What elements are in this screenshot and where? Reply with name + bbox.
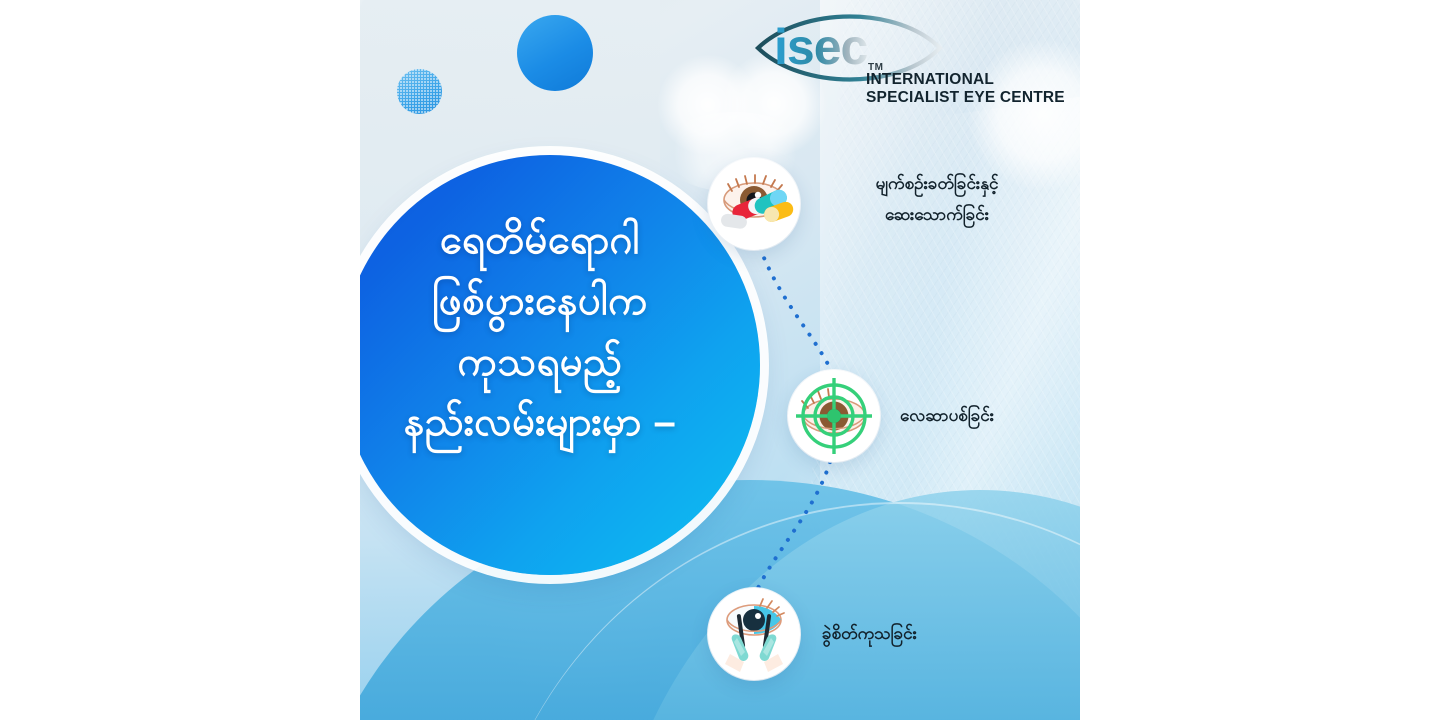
eye-with-pills-icon bbox=[708, 158, 800, 250]
treatment-label-laser-treatment: လေဆာပစ်ခြင်း bbox=[900, 400, 1080, 431]
creative-canvas: isec TM INTERNATIONAL SPECIALIST EYE CEN… bbox=[360, 0, 1080, 720]
solid-blue-circle-decoration bbox=[517, 15, 593, 91]
eye-surgery-hands-icon bbox=[708, 588, 800, 680]
treatment-icon-eye-drops-and-medication[interactable] bbox=[708, 158, 800, 250]
eye-with-laser-target-icon bbox=[788, 370, 880, 462]
treatment-icon-laser-treatment[interactable] bbox=[788, 370, 880, 462]
page-title: ရေတိမ်ရောဂါ ဖြစ်ပွားနေပါက ကုသရမည့် နည်းလ… bbox=[380, 210, 700, 453]
dotted-blue-circle-decoration bbox=[397, 69, 442, 114]
logo-company-line2: SPECIALIST EYE CENTRE bbox=[866, 89, 1065, 107]
svg-text:isec: isec bbox=[774, 19, 868, 75]
treatment-label-surgical-treatment: ခွဲစိတ်ကုသခြင်း bbox=[822, 618, 1022, 649]
logo-company-name: INTERNATIONAL SPECIALIST EYE CENTRE bbox=[866, 71, 1065, 108]
poster-root: isec TM INTERNATIONAL SPECIALIST EYE CEN… bbox=[0, 0, 1440, 720]
treatment-label-eye-drops-and-medication: မျက်စဉ်းခတ်ခြင်းနှင့် ဆေးသောက်ခြင်း bbox=[822, 168, 1052, 231]
logo-company-line1: INTERNATIONAL bbox=[866, 71, 1065, 89]
treatment-icon-surgical-treatment[interactable] bbox=[708, 588, 800, 680]
isec-logo: isec TM INTERNATIONAL SPECIALIST EYE CEN… bbox=[750, 12, 1070, 112]
